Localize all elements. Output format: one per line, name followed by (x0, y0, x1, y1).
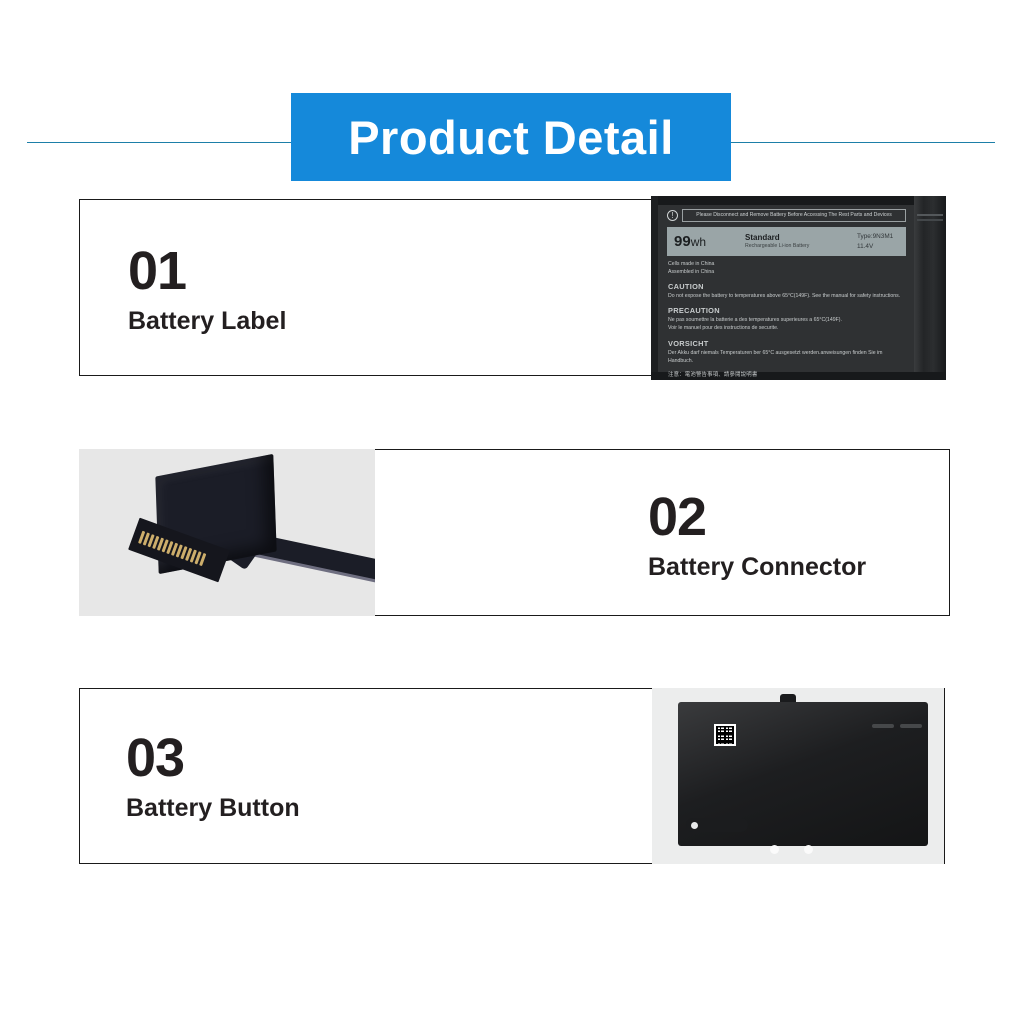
label-cn-line-1: 注意：電池警告事項、請參閱說明書 (668, 371, 906, 380)
card-02-number: 02 (648, 490, 706, 544)
card-01-text-block: 01 Battery Label (128, 244, 286, 337)
battery-foot-right (804, 845, 813, 854)
label-spec-band: 99wh Standard Rechargeable Li-ion Batter… (667, 227, 906, 256)
card-02-text-block: 02 Battery Connector (648, 490, 866, 583)
label-precaution-heading: PRECAUTION (668, 305, 906, 316)
label-top-shade (651, 196, 946, 205)
label-origin-2: Assembled in China (668, 268, 906, 276)
label-precaution-body-1: Ne pas soumettre la batterie a des tempe… (668, 316, 906, 324)
label-voltage: 11.4V (857, 242, 893, 251)
label-body-text: Cells made in China Assembled in China C… (668, 260, 906, 380)
detail-card-02: 02 Battery Connector (79, 449, 950, 616)
label-warning-text: Please Disconnect and Remove Battery Bef… (682, 209, 906, 222)
battery-release-tab (686, 818, 748, 832)
label-precaution-body-2: Voir le manuel pour des instructions de … (668, 324, 906, 332)
label-left-edge (651, 196, 658, 380)
product-detail-page: Product Detail 01 Battery Label ! Please… (0, 0, 1024, 1024)
battery-label-photo: ! Please Disconnect and Remove Battery B… (651, 196, 946, 380)
battery-pack-body (678, 702, 928, 846)
battery-foot-left (770, 845, 779, 854)
card-03-number: 03 (126, 731, 184, 785)
battery-surface (652, 688, 944, 864)
label-right-edge (914, 196, 946, 380)
qr-code-icon (714, 724, 736, 746)
label-capacity-unit: wh (691, 235, 706, 249)
battery-connector-photo (79, 449, 375, 616)
label-vorsicht-heading: VORSICHT (668, 338, 906, 349)
label-standard-title: Standard (745, 233, 857, 243)
detail-card-01: 01 Battery Label ! Please Disconnect and… (79, 199, 945, 376)
label-vorsicht-body: Der Akku darf niemals Temperaturen ber 6… (668, 349, 906, 365)
card-03-label: Battery Button (126, 793, 300, 824)
label-warning-strip: ! Please Disconnect and Remove Battery B… (667, 209, 906, 222)
card-01-label: Battery Label (128, 306, 286, 337)
connector-surface (79, 449, 375, 616)
label-caution-body: Do not expose the battery to temperature… (668, 292, 906, 300)
card-03-text-block: 03 Battery Button (126, 731, 300, 824)
page-title-banner: Product Detail (291, 93, 731, 181)
label-standard-block: Standard Rechargeable Li-ion Battery (745, 233, 857, 250)
card-02-label: Battery Connector (648, 552, 866, 583)
battery-label-surface: ! Please Disconnect and Remove Battery B… (651, 196, 946, 380)
label-type-block: Type:9N3M1 11.4V (857, 232, 893, 251)
label-capacity-value: 99 (674, 233, 691, 250)
label-caution-heading: CAUTION (668, 281, 906, 292)
detail-card-03: 03 Battery Button (79, 688, 945, 864)
warning-icon: ! (667, 210, 678, 221)
page-title: Product Detail (348, 114, 674, 161)
label-capacity: 99wh (667, 233, 745, 251)
card-01-number: 01 (128, 244, 186, 298)
label-origin-1: Cells made in China (668, 260, 906, 268)
battery-slot-right-2 (900, 724, 922, 728)
battery-slot-right-1 (872, 724, 894, 728)
label-standard-sub: Rechargeable Li-ion Battery (745, 243, 857, 250)
battery-button-photo (652, 688, 944, 864)
label-type: Type:9N3M1 (857, 232, 893, 241)
page-header: Product Detail (0, 45, 1024, 140)
